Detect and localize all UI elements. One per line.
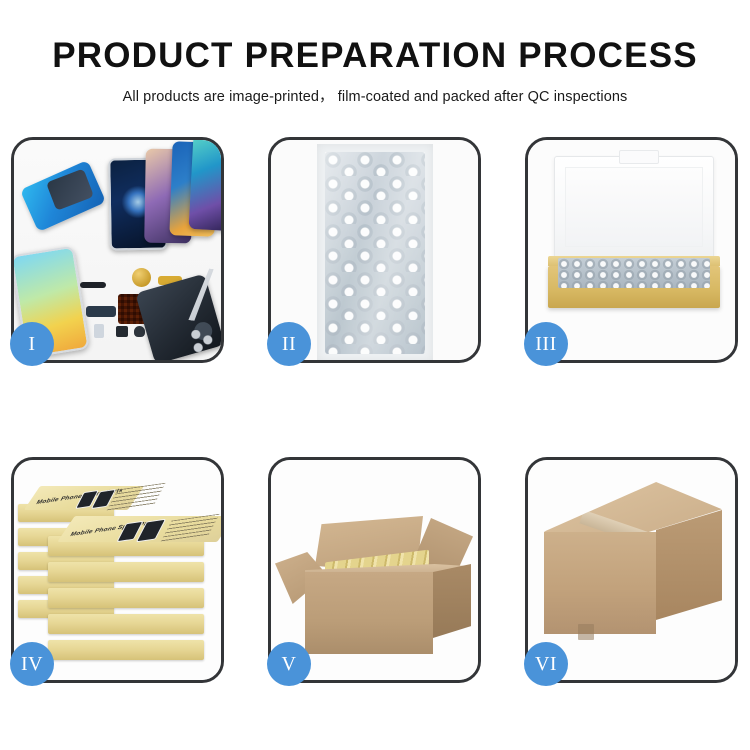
- stacked-box-f5: [48, 640, 204, 660]
- process-grid: I II: [11, 137, 739, 683]
- process-step-panel-4[interactable]: Mobile Phone Spare Parts Mobile Phone Sp…: [11, 457, 224, 683]
- speaker-part: [80, 282, 106, 288]
- bubble-wrap-sheet: [317, 144, 433, 360]
- lid-tab: [619, 150, 659, 164]
- page-subtitle: All products are image-printed， film-coa…: [0, 85, 750, 106]
- page-title: PRODUCT PREPARATION PROCESS: [0, 36, 750, 76]
- camera-lens-part: [132, 268, 151, 287]
- carton-side-panel: [433, 564, 471, 638]
- step-badge-2: II: [267, 322, 311, 366]
- process-step-panel-1[interactable]: I: [11, 137, 224, 363]
- process-step-panel-3[interactable]: III: [525, 137, 738, 363]
- small-part-b: [116, 326, 128, 337]
- step-badge-6: VI: [524, 642, 568, 686]
- small-part-c: [134, 326, 145, 337]
- flex-cable-c: [86, 306, 116, 317]
- header: PRODUCT PREPARATION PROCESS All products…: [0, 0, 750, 106]
- carton-handle-cut-top: [578, 624, 594, 640]
- stacked-box-f3: [48, 588, 204, 608]
- process-step-panel-5[interactable]: V: [268, 457, 481, 683]
- stacked-box-f4: [48, 614, 204, 634]
- step-badge-4: IV: [10, 642, 54, 686]
- sealed-carton-front: [544, 532, 656, 634]
- box-stack: Mobile Phone Spare Parts Mobile Phone Sp…: [18, 484, 221, 670]
- step-badge-1: I: [10, 322, 54, 366]
- process-row-bottom: Mobile Phone Spare Parts Mobile Phone Sp…: [11, 457, 739, 683]
- process-step-panel-2[interactable]: II: [268, 137, 481, 363]
- bubble-wrapped-contents: [558, 258, 710, 288]
- kraft-box-tray: [548, 266, 720, 308]
- phone-screen-teal: [189, 140, 221, 231]
- stacked-box-f2: [48, 562, 204, 582]
- step-badge-5: V: [267, 642, 311, 686]
- blue-adhesive-film: [20, 160, 106, 232]
- infographic-page: PRODUCT PREPARATION PROCESS All products…: [0, 0, 750, 750]
- screws-group: [191, 330, 215, 352]
- small-part-a: [94, 324, 104, 338]
- carton-front-panel: [305, 572, 433, 654]
- process-step-panel-6[interactable]: VI: [525, 457, 738, 683]
- process-row-top: I II: [11, 137, 739, 363]
- plastic-sheen: [325, 152, 425, 354]
- step-badge-3: III: [524, 322, 568, 366]
